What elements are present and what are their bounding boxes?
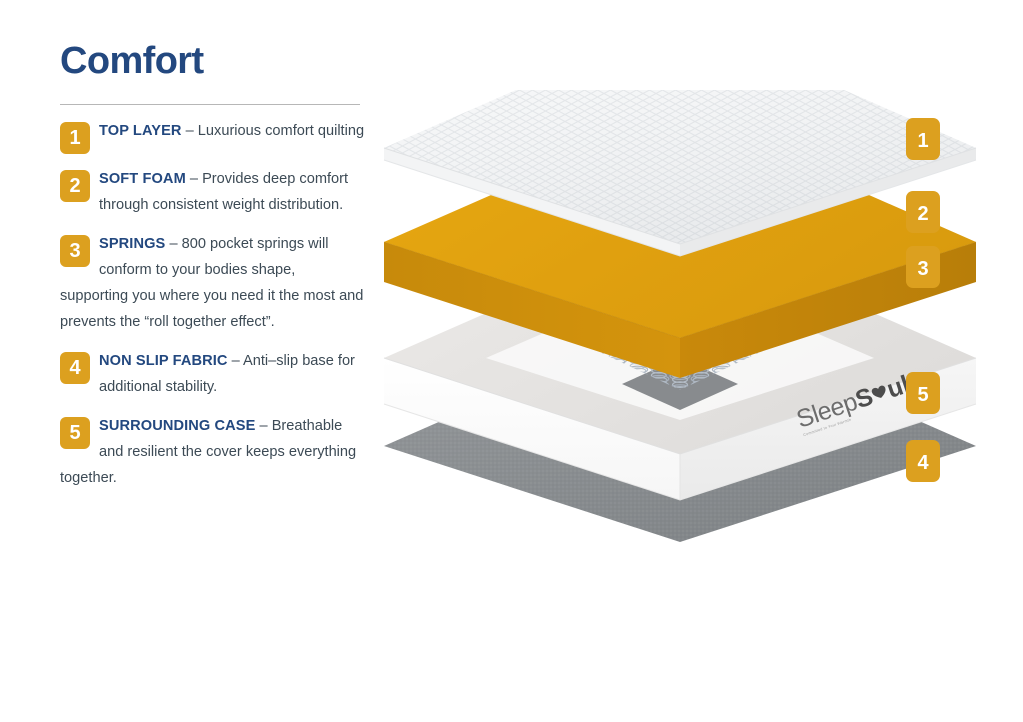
callout-badge-5-label: 5 [917, 384, 928, 406]
callout-badge-2-label: 2 [917, 203, 928, 225]
feature-badge-3: 3 [60, 235, 90, 267]
feature-badge-1: 1 [60, 122, 90, 154]
callout-badge-4[interactable]: 4 [906, 440, 940, 482]
list-item-springs: 3 SPRINGS – 800 pocket springs will conf… [60, 232, 365, 336]
feature-text-2: SOFT FOAM – Provides deep comfort throug… [60, 167, 365, 219]
comfort-info-panel: Comfort 1 TOP LAYER – Luxurious comfort … [60, 42, 365, 505]
feature-term-3: SPRINGS [99, 236, 165, 252]
callout-badge-3-label: 3 [917, 258, 928, 280]
callout-badge-5[interactable]: 5 [906, 372, 940, 414]
page-title: Comfort [60, 42, 365, 80]
list-item-surrounding-case: 5 SURROUNDING CASE – Breathable and resi… [60, 414, 365, 492]
feature-term-2: SOFT FOAM [99, 171, 186, 187]
feature-text-3: SPRINGS – 800 pocket springs will confor… [60, 232, 365, 336]
callout-badge-3[interactable]: 3 [906, 246, 940, 288]
feature-text-4: NON SLIP FABRIC – Anti–slip base for add… [60, 349, 365, 401]
callout-badge-2[interactable]: 2 [906, 191, 940, 233]
list-item-top-layer: 1 TOP LAYER – Luxurious comfort quilting [60, 119, 365, 154]
mattress-exploded-diagram: SleepSul Committed to Your Warmth 1 [370, 90, 990, 570]
feature-term-1: TOP LAYER [99, 123, 182, 139]
feature-description-1: – Luxurious comfort quilting [186, 123, 364, 139]
feature-badge-4: 4 [60, 352, 90, 384]
list-item-non-slip-fabric: 4 NON SLIP FABRIC – Anti–slip base for a… [60, 349, 365, 401]
feature-term-5: SURROUNDING CASE [99, 418, 255, 434]
callout-badge-1[interactable]: 1 [906, 118, 940, 160]
feature-text-1: TOP LAYER – Luxurious comfort quilting [60, 119, 365, 145]
feature-text-5: SURROUNDING CASE – Breathable and resili… [60, 414, 365, 492]
feature-term-4: NON SLIP FABRIC [99, 353, 228, 369]
feature-badge-5: 5 [60, 417, 90, 449]
feature-badge-2: 2 [60, 170, 90, 202]
callout-badge-1-label: 1 [917, 130, 928, 152]
title-divider [60, 104, 360, 105]
callout-badge-4-label: 4 [917, 452, 929, 474]
feature-list: 1 TOP LAYER – Luxurious comfort quilting… [60, 119, 365, 492]
list-item-soft-foam: 2 SOFT FOAM – Provides deep comfort thro… [60, 167, 365, 219]
